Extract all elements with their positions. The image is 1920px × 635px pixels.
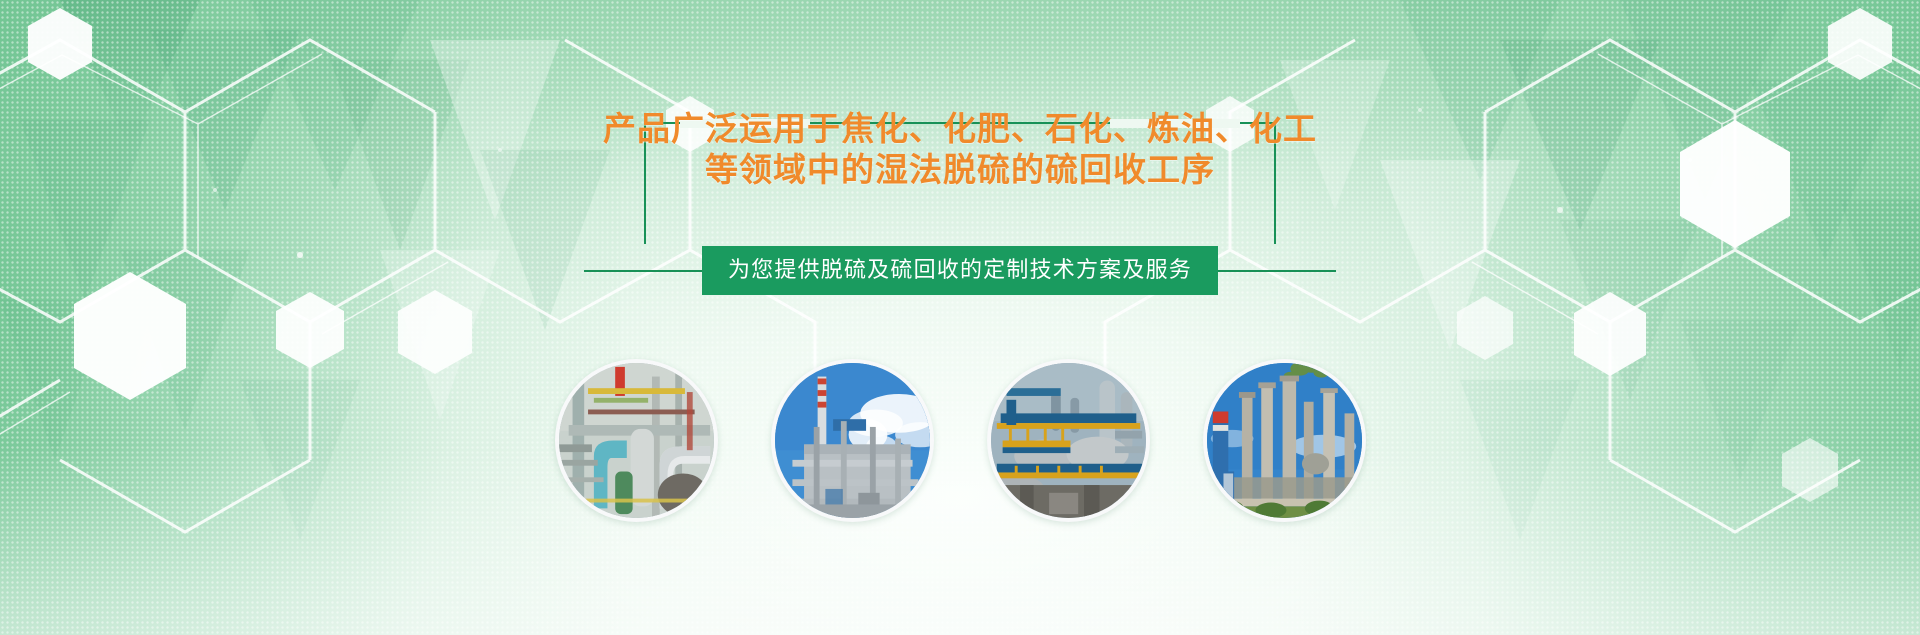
headline-line-2: 等领域中的湿法脱硫的硫回收工序: [597, 149, 1323, 190]
promo-banner: 产品广泛运用于焦化、化肥、石化、炼油、化工 等领域中的湿法脱硫的硫回收工序 为您…: [0, 0, 1920, 635]
subbanner-rule-left: [584, 270, 702, 272]
headline-text: 产品广泛运用于焦化、化肥、石化、炼油、化工 等领域中的湿法脱硫的硫回收工序: [597, 108, 1323, 190]
refinery-piping-image: [559, 363, 714, 518]
background-right-gradient: [1300, 0, 1920, 635]
plant-smokestack-image: [775, 363, 930, 518]
subbanner-rule-right: [1218, 270, 1336, 272]
headline-block: 产品广泛运用于焦化、化肥、石化、炼油、化工 等领域中的湿法脱硫的硫回收工序: [0, 104, 1920, 190]
photo-refinery-piping: [555, 359, 718, 522]
subbanner-text: 为您提供脱硫及硫回收的定制技术方案及服务: [702, 246, 1218, 295]
photo-pressure-vessels: [987, 359, 1150, 522]
halftone-texture: [0, 0, 1920, 635]
hexagon-lattice-decoration: [0, 0, 1920, 635]
background-left-gradient: [0, 0, 620, 635]
headline-frame: 产品广泛运用于焦化、化肥、石化、炼油、化工 等领域中的湿法脱硫的硫回收工序: [636, 104, 1284, 190]
photo-row: [0, 359, 1920, 522]
subbanner-block: 为您提供脱硫及硫回收的定制技术方案及服务: [0, 246, 1920, 295]
pressure-vessels-image: [991, 363, 1146, 518]
photo-plant-smokestack: [771, 359, 934, 522]
headline-line-1: 产品广泛运用于焦化、化肥、石化、炼油、化工: [597, 108, 1323, 149]
photo-distillation-columns: [1203, 359, 1366, 522]
distillation-columns-image: [1207, 363, 1362, 518]
